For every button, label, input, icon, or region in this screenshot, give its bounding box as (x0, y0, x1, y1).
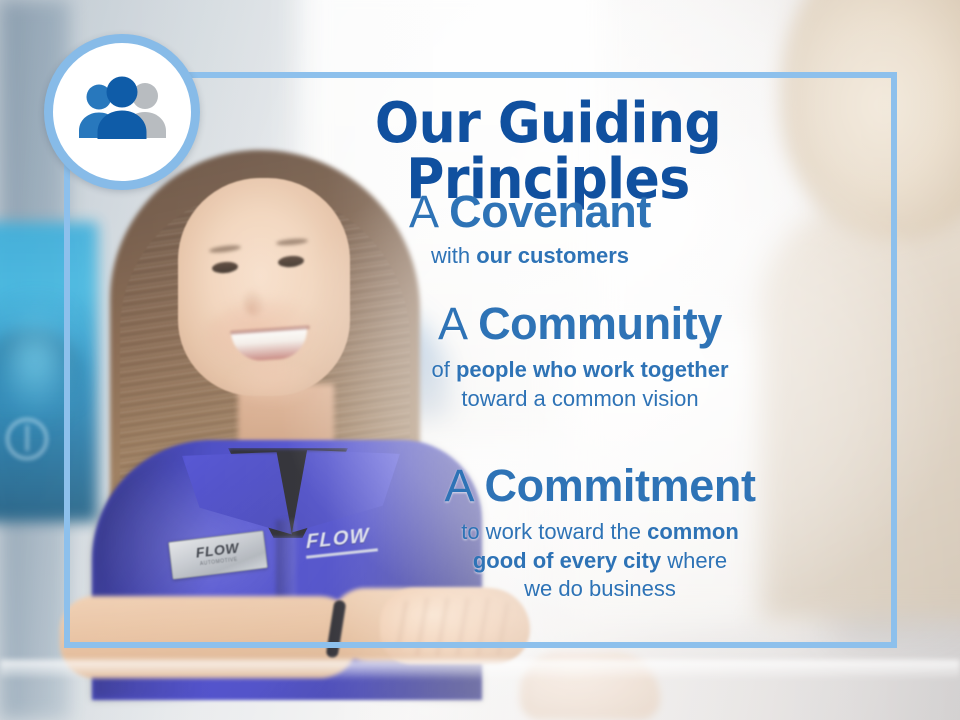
emphasis-text: people who work together (456, 357, 729, 382)
plain-text: toward a common vision (461, 386, 698, 411)
principle-description: of people who work togethertoward a comm… (300, 356, 860, 413)
plain-text: of (431, 357, 455, 382)
principle-heading: A Covenant (250, 188, 810, 235)
emphasis-text: common (647, 519, 739, 544)
plain-text: to work toward the (461, 519, 647, 544)
principle-commitment: A Commitment to work toward the commongo… (320, 462, 880, 604)
principle-description: with our customers (250, 242, 810, 271)
principle-lead-word: A (409, 186, 437, 237)
principle-heading: A Community (300, 300, 860, 347)
emphasis-text: our customers (476, 243, 629, 268)
principle-description-line: toward a common vision (300, 385, 860, 414)
principle-description-line: with our customers (250, 242, 810, 271)
principle-heading: A Commitment (320, 462, 880, 509)
plain-text: we do business (524, 576, 676, 601)
principle-description-line: we do business (320, 575, 880, 604)
people-group-badge (44, 34, 200, 190)
principle-community: A Community of people who work togethert… (300, 300, 860, 413)
emphasis-text: good of every city (473, 548, 661, 573)
principle-description-line: to work toward the common (320, 518, 880, 547)
people-group-icon (70, 76, 174, 148)
principle-description-line: of people who work together (300, 356, 860, 385)
principle-key-word: Covenant (449, 186, 651, 237)
principle-description: to work toward the commongood of every c… (320, 518, 880, 604)
principle-covenant: A Covenant with our customers (250, 188, 810, 271)
plain-text: where (661, 548, 727, 573)
principle-key-word: Commitment (485, 460, 756, 511)
principle-description-line: good of every city where (320, 547, 880, 576)
principle-lead-word: A (444, 460, 472, 511)
principle-lead-word: A (438, 298, 466, 349)
principle-key-word: Community (478, 298, 722, 349)
plain-text: with (431, 243, 476, 268)
guiding-principles-banner: FLOW FLOW AUTOMOTIVE Our (0, 0, 960, 720)
